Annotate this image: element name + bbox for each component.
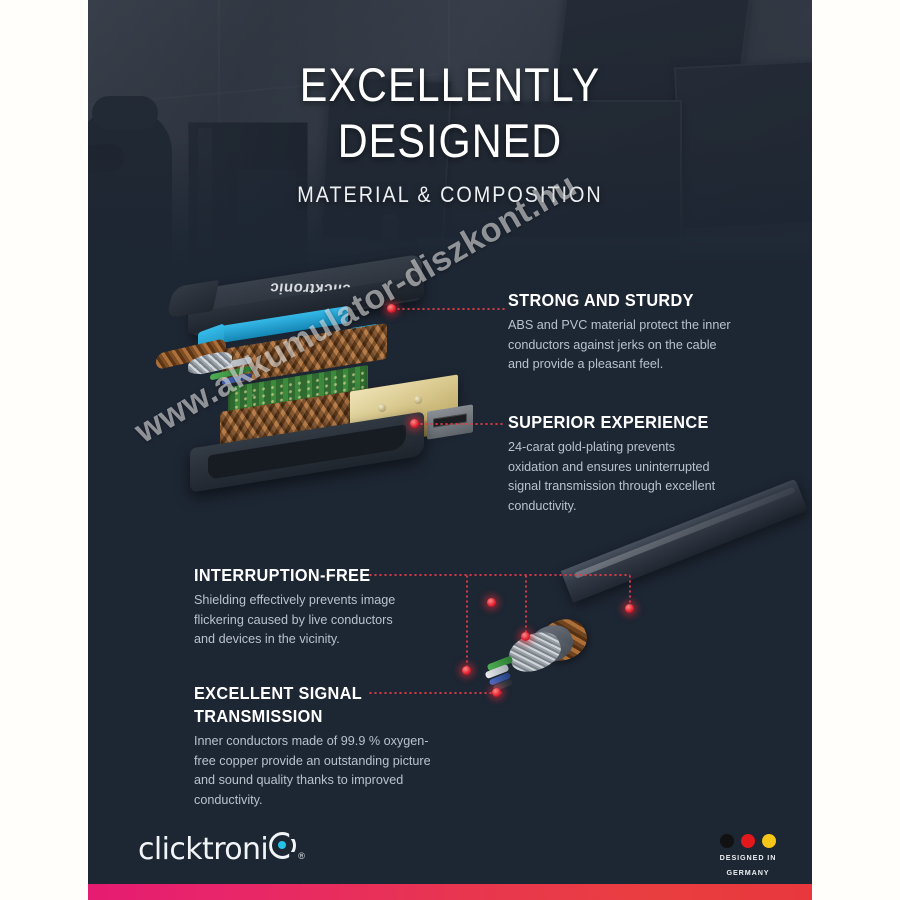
leader-drop-braid (525, 574, 527, 636)
flag-dot-black (720, 834, 734, 848)
plug-screw-right (414, 396, 422, 404)
hero-subtitle: MATERIAL & COMPOSITION (124, 182, 776, 208)
feature-body: Inner conductors made of 99.9 % oxygen-f… (194, 731, 443, 809)
feature-superior-experience: SUPERIOR EXPERIENCE 24-carat gold-platin… (508, 412, 740, 515)
marker-dot-cable-tip (487, 598, 496, 607)
hero-title-line1: EXCELLENTLY (131, 58, 768, 112)
origin-line-1: DESIGNED IN (700, 853, 796, 863)
feature-excellent-signal-transmission: EXCELLENT SIGNAL TRANSMISSION Inner cond… (194, 683, 456, 809)
leader-line-housing (396, 308, 506, 310)
german-flag-dots (700, 834, 796, 848)
plug-screw-left (378, 404, 386, 412)
bottom-gradient-bar (88, 884, 812, 900)
feature-heading: STRONG AND STURDY (508, 290, 731, 311)
marker-dot-housing (387, 304, 396, 313)
marker-dot-foil (462, 666, 471, 675)
marker-dot-jacket (625, 604, 634, 613)
hero-title-line2: DESIGNED (131, 114, 768, 168)
feature-interruption-free: INTERRUPTION-FREE Shielding effectively … (194, 565, 422, 649)
feature-strong-and-sturdy: STRONG AND STURDY ABS and PVC material p… (508, 290, 748, 374)
leader-drop-jacket (629, 574, 631, 608)
feature-body: Shielding effectively prevents image fli… (194, 590, 411, 649)
hero-text-group: EXCELLENTLY DESIGNED MATERIAL & COMPOSIT… (88, 0, 812, 208)
logo-registered-mark: ® (298, 851, 305, 861)
feature-heading: SUPERIOR EXPERIENCE (508, 412, 724, 433)
flag-dot-red (741, 834, 755, 848)
marker-dot-inner-conductors (492, 688, 501, 697)
leader-drop-foil (466, 574, 468, 670)
product-infographic: EXCELLENTLY DESIGNED MATERIAL & COMPOSIT… (0, 0, 900, 900)
feature-heading-line2: TRANSMISSION (194, 706, 438, 727)
designed-in-germany-badge: DESIGNED IN GERMANY (700, 834, 796, 877)
logo-wordmark: clicktroni (138, 832, 268, 867)
flag-dot-gold (762, 834, 776, 848)
exploded-connector-illustration: clicktronic (174, 258, 504, 488)
feature-body: ABS and PVC material protect the inner c… (508, 315, 736, 374)
leader-line-interruption-free (368, 574, 630, 576)
dark-panel: EXCELLENTLY DESIGNED MATERIAL & COMPOSIT… (88, 0, 812, 900)
leader-line-gold-plug (419, 423, 505, 425)
logo-c-glyph (269, 832, 296, 859)
marker-dot-gold-plug (410, 419, 419, 428)
logo-accent-dot (278, 841, 286, 849)
origin-line-2: GERMANY (700, 868, 796, 878)
marker-dot-braid (521, 632, 530, 641)
leader-line-excellent-signal (368, 692, 502, 694)
feature-body: 24-carat gold-plating prevents oxidation… (508, 437, 728, 515)
clicktronic-logo: clicktroni ® (138, 832, 305, 867)
